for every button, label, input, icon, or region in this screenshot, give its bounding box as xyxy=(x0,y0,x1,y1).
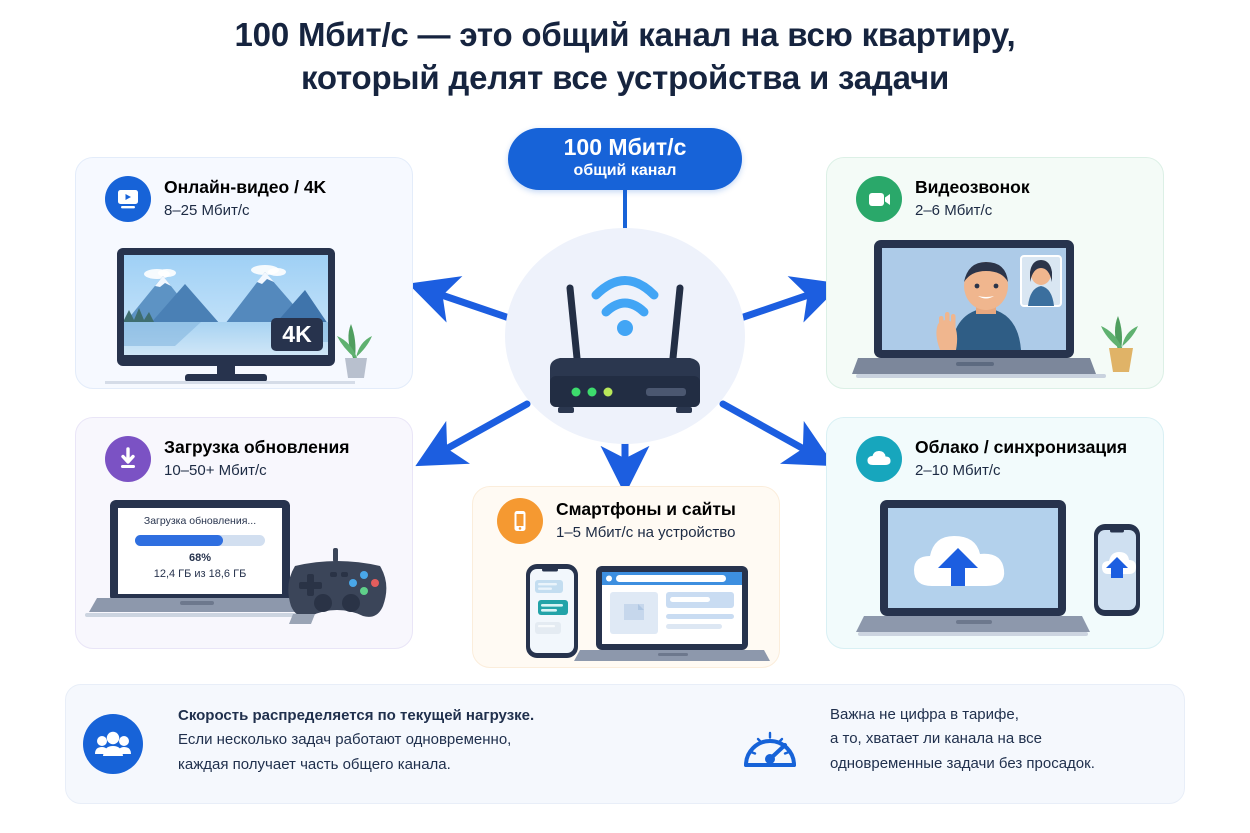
card-online-video-speed: 8–25 Мбит/с xyxy=(164,201,326,221)
title-line-1: 100 Мбит/с — это общий канал на всю квар… xyxy=(0,14,1250,57)
card-online-video-header: Онлайн-видео / 4K 8–25 Мбит/с xyxy=(105,176,326,222)
download-arrow-icon xyxy=(105,436,151,482)
footer-right-line3: одновременные задачи без просадок. xyxy=(830,755,1095,772)
gamepad-icon xyxy=(285,548,390,630)
card-download-header: Загрузка обновления 10–50+ Мбит/с xyxy=(105,436,349,482)
page-title: 100 Мбит/с — это общий канал на всю квар… xyxy=(0,14,1250,100)
card-video-call-speed: 2–6 Мбит/с xyxy=(915,201,1030,221)
plant-decoration xyxy=(337,324,372,378)
footer-right-line1: Важна не цифра в тарифе, xyxy=(830,706,1019,723)
tv-illustration: 4K xyxy=(105,246,390,386)
card-cloud-header: Облако / синхронизация 2–10 Мбит/с xyxy=(856,436,1127,482)
phone-laptop-illustration xyxy=(518,558,768,663)
download-laptop-illustration: Загрузка обновления... 68% 12,4 ГБ из 18… xyxy=(95,500,305,618)
footer-right-line2: а то, хватает ли канала на все xyxy=(830,730,1042,747)
card-phones-header: Смартфоны и сайты 1–5 Мбит/с на устройст… xyxy=(497,498,736,544)
progress-bar-track xyxy=(135,535,265,546)
hub-speed-badge: 100 Мбит/с общий канал xyxy=(508,128,742,190)
card-cloud-title: Облако / синхронизация xyxy=(915,437,1127,459)
footer-left-text: Скорость распределяется по текущей нагру… xyxy=(178,704,648,777)
play-video-icon xyxy=(105,176,151,222)
infographic-canvas: 100 Мбит/с — это общий канал на всю квар… xyxy=(0,0,1250,833)
card-cloud-speed: 2–10 Мбит/с xyxy=(915,461,1127,481)
card-video-call-title: Видеозвонок xyxy=(915,177,1030,199)
download-percent: 68% xyxy=(118,552,282,564)
progress-bar-fill xyxy=(135,535,223,546)
video-camera-icon xyxy=(856,176,902,222)
title-line-2: который делят все устройства и задачи xyxy=(0,57,1250,100)
card-online-video-title: Онлайн-видео / 4K xyxy=(164,177,326,199)
card-phones-speed: 1–5 Мбит/с на устройство xyxy=(556,523,736,543)
arrow-to-download xyxy=(430,404,527,458)
smartphone-icon xyxy=(497,498,543,544)
card-video-call-header: Видеозвонок 2–6 Мбит/с xyxy=(856,176,1030,222)
footer-left-line3: каждая получает часть общего канала. xyxy=(178,756,451,773)
card-phones-title: Смартфоны и сайты xyxy=(556,499,736,521)
speedometer-icon xyxy=(740,716,800,776)
users-group-icon xyxy=(83,714,143,774)
card-download-speed: 10–50+ Мбит/с xyxy=(164,461,349,481)
router-icon xyxy=(520,250,730,425)
card-download-title: Загрузка обновления xyxy=(164,437,349,459)
footer-right-text: Важна не цифра в тарифе, а то, хватает л… xyxy=(830,703,1190,776)
arrow-to-call xyxy=(729,289,826,322)
cloud-icon xyxy=(856,436,902,482)
footer-left-line2: Если несколько задач работают одновремен… xyxy=(178,731,511,748)
hub-speed-caption: общий канал xyxy=(574,159,677,182)
svg-text:4K: 4K xyxy=(282,321,312,347)
arrow-to-cloud xyxy=(723,404,820,458)
wifi-icon xyxy=(596,281,654,313)
resolution-badge-4k: 4K xyxy=(271,318,323,351)
footer-left-headline: Скорость распределяется по текущей нагру… xyxy=(178,704,648,728)
plant-decoration xyxy=(1101,316,1138,372)
cloud-upload-illustration xyxy=(852,498,1142,650)
picture-in-picture-tile xyxy=(1021,256,1061,306)
download-size: 12,4 ГБ из 18,6 ГБ xyxy=(118,568,282,580)
download-progress-label: Загрузка обновления... xyxy=(118,515,282,527)
video-call-illustration xyxy=(856,238,1146,388)
hub-speed-value: 100 Мбит/с xyxy=(564,135,687,159)
